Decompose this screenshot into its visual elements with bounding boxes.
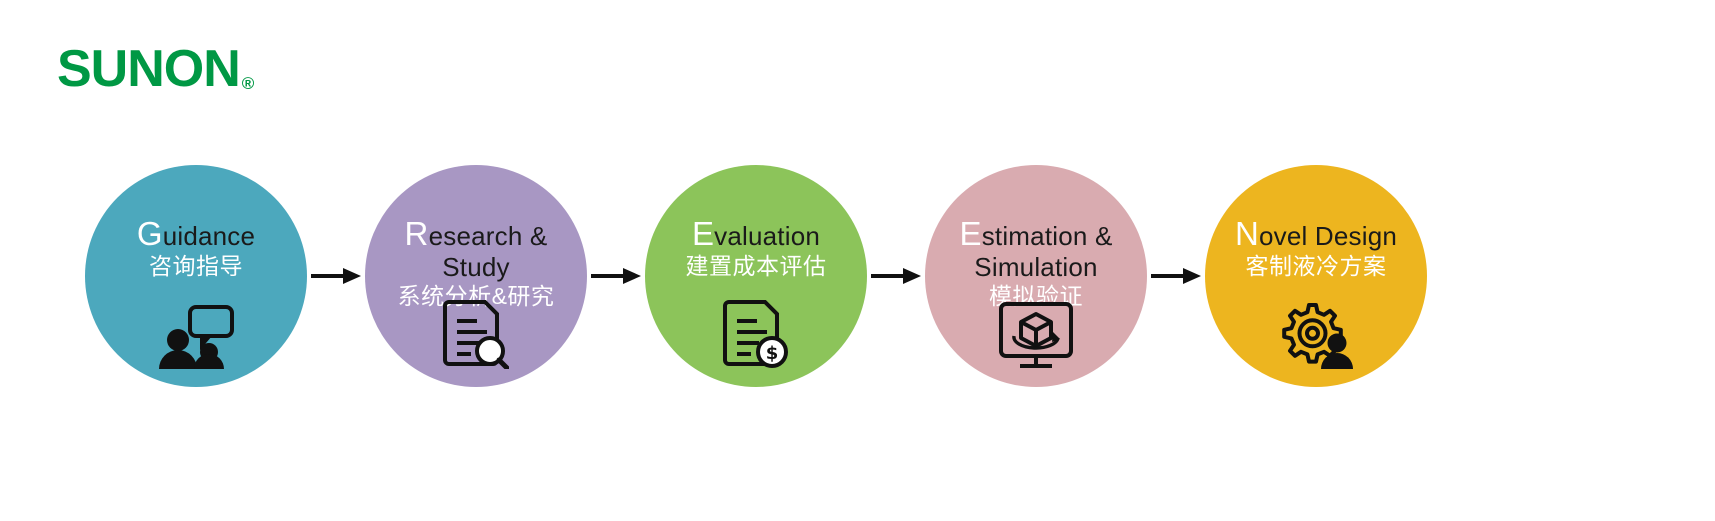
flow-step-estimation-simulation[interactable]: Estimation &Simulation 模拟验证	[925, 165, 1147, 387]
people-speech-bubble-icon	[155, 297, 237, 369]
step-title-en: Research &Study	[365, 217, 587, 282]
step-title-en: Estimation &Simulation	[925, 217, 1147, 282]
arrow-right-icon-2	[587, 262, 645, 290]
registered-trademark-icon: ®	[242, 75, 255, 92]
step-title-rest2: Study	[442, 252, 510, 282]
step-title-cn: 咨询指导	[85, 253, 307, 281]
step-titles: Novel Design 客制液冷方案	[1205, 217, 1427, 280]
step-title-en: Guidance	[85, 217, 307, 252]
document-magnifier-icon	[435, 297, 517, 369]
step-title-capital: E	[692, 215, 714, 252]
flow-step-guidance[interactable]: Guidance 咨询指导	[85, 165, 307, 387]
step-title-en: Evaluation	[645, 217, 867, 252]
process-flow: Guidance 咨询指导 Research &Study 系统分析&研究	[0, 146, 1715, 406]
step-title-cn: 客制液冷方案	[1205, 253, 1427, 281]
document-dollar-icon: $	[715, 297, 797, 369]
flow-step-novel-design[interactable]: Novel Design 客制液冷方案	[1205, 165, 1427, 387]
step-title-cn: 建置成本评估	[645, 253, 867, 281]
sunon-logo: SUNON ®	[57, 43, 254, 95]
step-title-rest: valuation	[714, 221, 820, 251]
flow-step-evaluation[interactable]: Evaluation 建置成本评估 $	[645, 165, 867, 387]
step-title-rest2: Simulation	[974, 252, 1097, 282]
step-title-capital: R	[405, 215, 429, 252]
step-title-capital: N	[1235, 215, 1259, 252]
logo-wordmark: SUNON	[57, 43, 240, 95]
arrow-right-icon-3	[867, 262, 925, 290]
step-title-capital: G	[137, 215, 163, 252]
step-title-en: Novel Design	[1205, 217, 1427, 252]
monitor-3d-cube-icon	[995, 297, 1077, 369]
step-title-capital: E	[959, 215, 981, 252]
arrow-right-icon-4	[1147, 262, 1205, 290]
step-title-rest: uidance	[163, 221, 255, 251]
gear-person-icon	[1275, 297, 1357, 369]
step-title-rest: esearch &	[429, 221, 548, 251]
step-title-rest: ovel Design	[1259, 221, 1397, 251]
arrow-right-icon-1	[307, 262, 365, 290]
step-title-rest: stimation &	[982, 221, 1113, 251]
step-titles: Guidance 咨询指导	[85, 217, 307, 280]
flow-step-research-study[interactable]: Research &Study 系统分析&研究	[365, 165, 587, 387]
svg-text:$: $	[766, 343, 779, 364]
step-titles: Evaluation 建置成本评估	[645, 217, 867, 280]
